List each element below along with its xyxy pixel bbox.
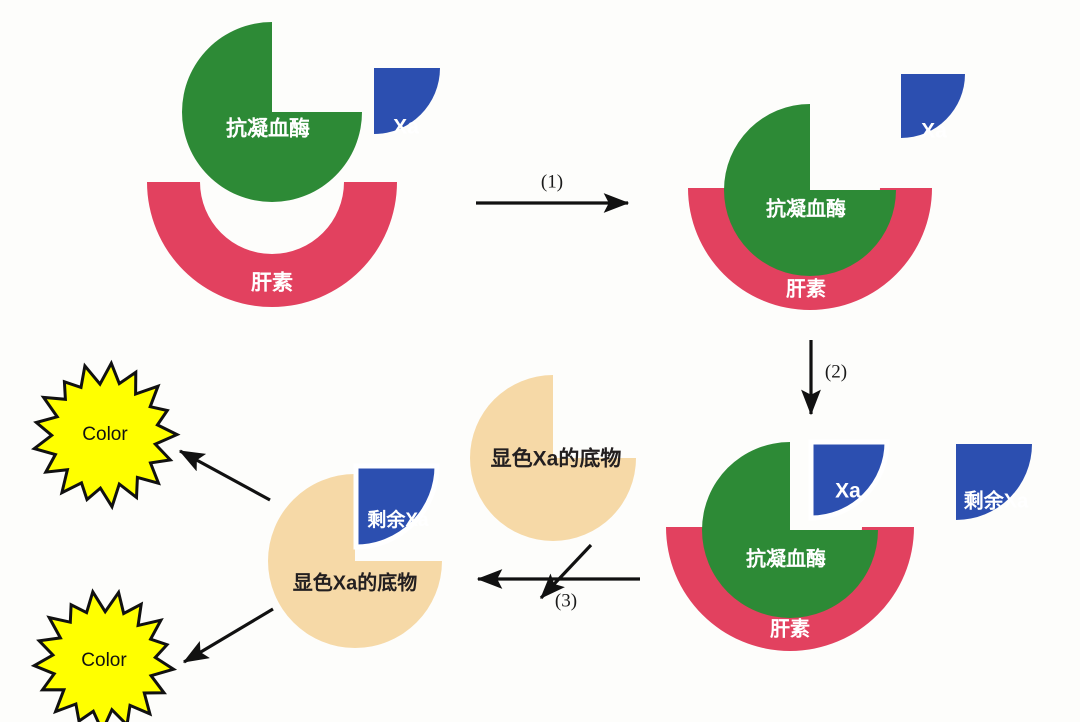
antithrombin-label-stage2: 抗凝血酶 [766,196,846,220]
xa-label-stage1: Xa [393,116,419,139]
color-label-bottom: Color [81,650,127,671]
heparin-label-stage2: 肝素 [786,276,826,300]
step-3-label: (3) [555,590,577,611]
xa-label-stage2: Xa [921,120,947,143]
step-1-label: (1) [541,171,563,192]
antithrombin-label-stage3: 抗凝血酶 [746,546,826,570]
heparin-label-stage3: 肝素 [770,616,810,640]
chromogenic-substrate-label-bound: 显色Xa的底物 [293,570,417,594]
diagram-canvas: 抗凝血酶 Xa 肝素 抗凝血酶 Xa 肝素 抗凝血酶 Xa 剩余Xa 肝素 [0,0,1080,722]
residual-xa-label-bound: 剩余Xa [367,508,429,531]
xa-label-stage3: Xa [835,480,861,503]
residual-xa-label-stage3: 剩余Xa [964,488,1029,512]
step-2-label: (2) [825,361,847,382]
color-label-top: Color [82,424,128,445]
diagram-svg: 抗凝血酶 Xa 肝素 抗凝血酶 Xa 肝素 抗凝血酶 Xa 剩余Xa 肝素 [0,0,1080,722]
antithrombin-label-stage1: 抗凝血酶 [226,117,310,141]
chromogenic-substrate-label: 显色Xa的底物 [491,447,622,471]
heparin-label-stage1: 肝素 [251,271,293,295]
